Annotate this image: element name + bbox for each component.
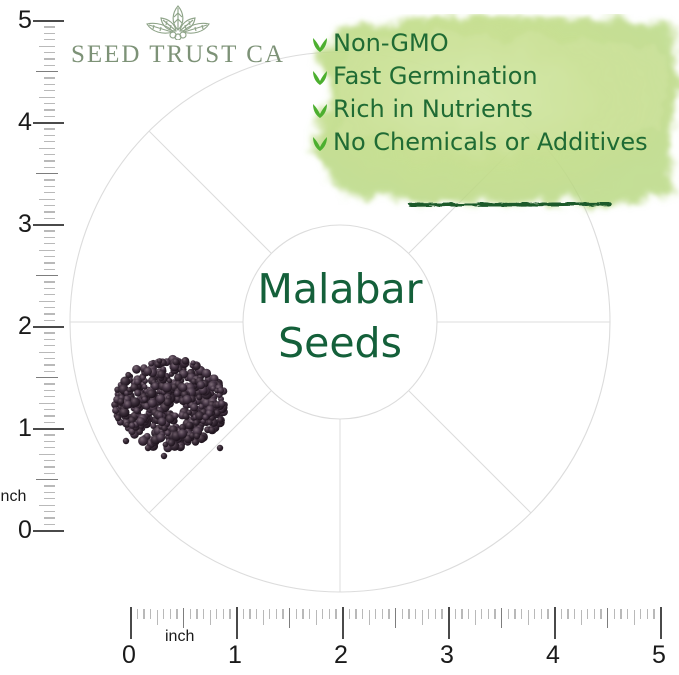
feature-item-1: Fast Germination [310, 59, 679, 92]
v-ruler-label-1: 1 [18, 416, 32, 441]
v-ruler-unit: inch [0, 489, 26, 505]
leaf-check-icon [310, 65, 330, 87]
h-ruler-label-5: 5 [652, 643, 666, 668]
feature-list: Non-GMO Fast Germination Rich in Nutrien… [310, 26, 679, 158]
leaf-check-icon [310, 32, 330, 54]
product-image-canvas: Non-GMO Fast Germination Rich in Nutrien… [0, 0, 679, 675]
leaf-check-icon [310, 98, 330, 120]
v-ruler-label-2: 2 [18, 314, 32, 339]
leaf-check-icon [310, 131, 330, 153]
feature-label-0: Non-GMO [333, 31, 449, 55]
feature-label-1: Fast Germination [333, 64, 538, 88]
horizontal-ruler: 0 1 2 3 4 5 inch [0, 605, 679, 675]
h-ruler-label-4: 4 [546, 643, 560, 668]
h-ruler-label-1: 1 [228, 643, 242, 668]
product-title-line1: Malabar [240, 262, 440, 316]
vertical-ruler: 5 4 3 2 1 0 inch [0, 0, 70, 600]
product-title: Malabar Seeds [240, 262, 440, 370]
feature-item-0: Non-GMO [310, 26, 679, 59]
feature-item-3: No Chemicals or Additives [310, 125, 679, 158]
v-ruler-label-5: 5 [18, 8, 32, 33]
brand-name: SEED TRUST CA [62, 41, 294, 69]
v-ruler-label-0: 0 [18, 518, 32, 543]
feature-item-2: Rich in Nutrients [310, 92, 679, 125]
product-title-line2: Seeds [240, 316, 440, 370]
h-ruler-unit: inch [165, 629, 194, 645]
v-ruler-label-4: 4 [18, 110, 32, 135]
v-ruler-label-3: 3 [18, 212, 32, 237]
malabar-seed-pile [96, 344, 246, 464]
brand-logo: SEED TRUST CA [62, 4, 294, 69]
feature-label-2: Rich in Nutrients [333, 97, 533, 121]
brush-underline [410, 204, 610, 205]
feature-label-3: No Chemicals or Additives [333, 130, 648, 154]
h-ruler-label-3: 3 [440, 643, 454, 668]
h-ruler-label-2: 2 [334, 643, 348, 668]
leaf-emblem-icon [139, 4, 217, 40]
h-ruler-label-0: 0 [122, 643, 136, 668]
